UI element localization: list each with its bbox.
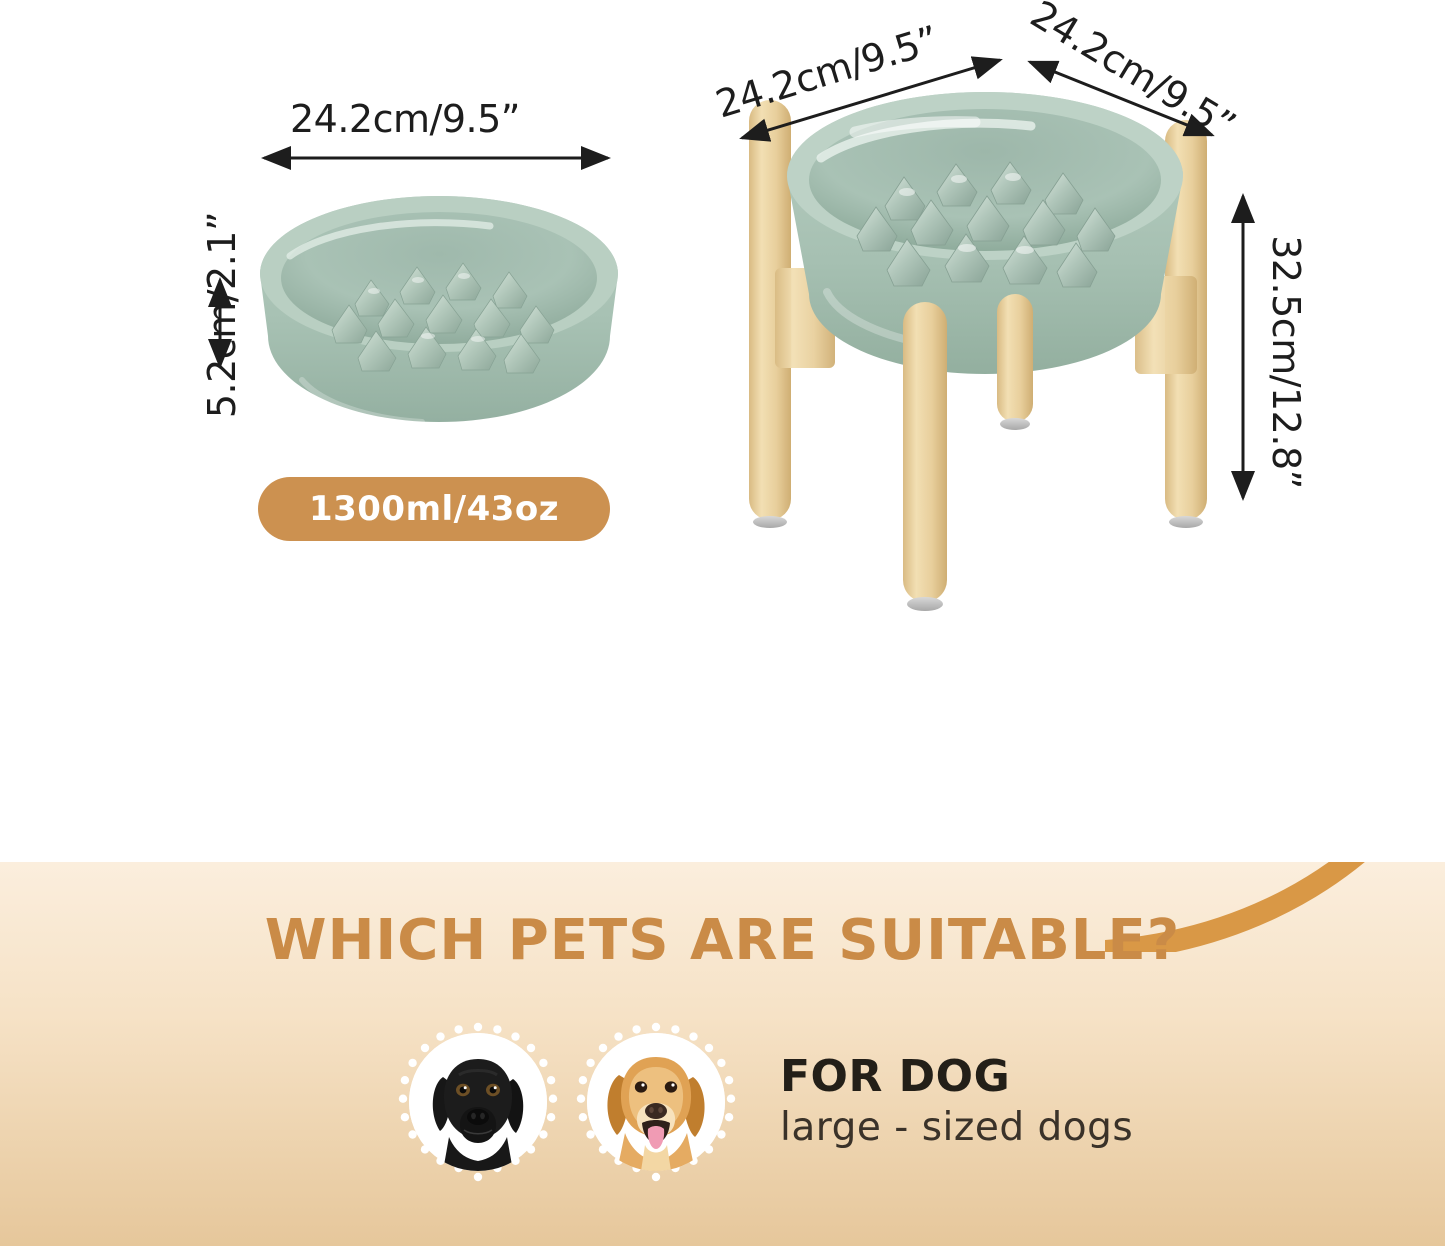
golden-retriever-portrait (587, 1033, 725, 1171)
suitability-banner: WHICH PETS ARE SUITABLE? (0, 862, 1445, 1246)
left-bowl-width-label: 24.2cm/9.5” (290, 97, 520, 141)
black-labrador-portrait (409, 1033, 547, 1171)
pet-category-text: FOR DOG large - sized dogs (780, 1054, 1133, 1149)
left-bowl-height-label: 5.2cm/2.1” (200, 212, 244, 418)
product-dimensions-section: 24.2cm/9.5” 5.2cm/2.1” 24.2cm/9.5” 24.2c… (0, 0, 1445, 862)
right-stand-height-label: 32.5cm/12.8” (1264, 235, 1308, 489)
banner-title: WHICH PETS ARE SUITABLE? (0, 908, 1445, 973)
pet-category-subtitle: large - sized dogs (780, 1105, 1133, 1150)
pet-photo-black-labrador (398, 1022, 558, 1182)
pet-category-title: FOR DOG (780, 1054, 1133, 1100)
pets-row: FOR DOG large - sized dogs (398, 1022, 1133, 1182)
pet-photo-golden-retriever (576, 1022, 736, 1182)
capacity-badge: 1300ml/43oz (258, 477, 610, 541)
